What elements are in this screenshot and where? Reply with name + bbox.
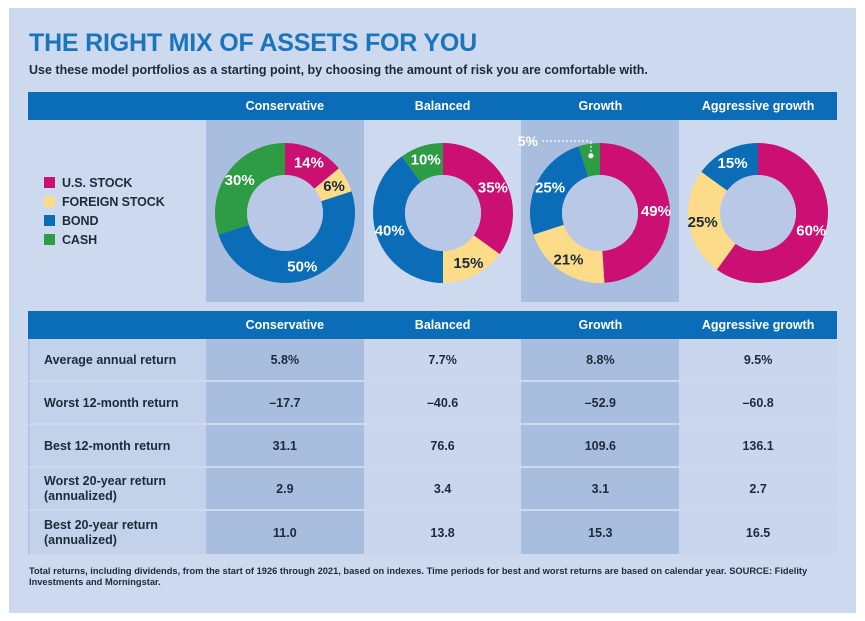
infographic-page: THE RIGHT MIX OF ASSETS FOR YOU Use thes… bbox=[0, 0, 865, 621]
table-cell-value: 76.6 bbox=[364, 425, 522, 468]
donut-slice-label: 10% bbox=[410, 152, 440, 169]
table-cell-value: 2.7 bbox=[679, 468, 837, 511]
legend-label: U.S. STOCK bbox=[62, 176, 132, 190]
table-header-corner bbox=[28, 311, 206, 339]
legend-item-cash: CASH bbox=[44, 233, 206, 247]
table-header-balanced: Balanced bbox=[364, 311, 522, 339]
table-row-label: Best 12-month return bbox=[28, 425, 206, 468]
chart-legend: U.S. STOCKFOREIGN STOCKBONDCASH bbox=[28, 120, 206, 302]
table-row-label: Worst 12-month return bbox=[28, 382, 206, 425]
table-header-aggressive-growth: Aggressive growth bbox=[679, 311, 837, 339]
table-row-label: Best 20-year return(annualized) bbox=[28, 511, 206, 554]
donut-header-balanced: Balanced bbox=[364, 92, 522, 120]
infographic-card: THE RIGHT MIX OF ASSETS FOR YOU Use thes… bbox=[9, 8, 856, 613]
donut-slice-label: 6% bbox=[323, 178, 345, 195]
donut-header-bar: Conservative Balanced Growth Aggressive … bbox=[28, 92, 837, 120]
donut-chart-aggressive-growth: 60%25%15% bbox=[679, 120, 837, 302]
table-cell-value: 5.8% bbox=[206, 339, 364, 382]
legend-label: BOND bbox=[62, 214, 98, 228]
donut-slice-label: 15% bbox=[718, 155, 748, 172]
table-cell-value: 11.0 bbox=[206, 511, 364, 554]
donut-header-aggressive-growth: Aggressive growth bbox=[679, 92, 837, 120]
donut-slice-label: 30% bbox=[225, 172, 255, 189]
table-body: Average annual return5.8%7.7%8.8%9.5%Wor… bbox=[28, 339, 837, 554]
donut-chart-balanced: 35%15%40%10% bbox=[364, 120, 522, 302]
legend-item-u-s-stock: U.S. STOCK bbox=[44, 176, 206, 190]
donut-chart-band: U.S. STOCKFOREIGN STOCKBONDCASH 14%6%50%… bbox=[28, 120, 837, 302]
table-cell-value: 136.1 bbox=[679, 425, 837, 468]
table-header-conservative: Conservative bbox=[206, 311, 364, 339]
page-subtitle: Use these model portfolios as a starting… bbox=[29, 63, 837, 78]
table-cell-value: 3.1 bbox=[521, 468, 679, 511]
donut-slice-label: 40% bbox=[374, 223, 404, 240]
legend-item-foreign-stock: FOREIGN STOCK bbox=[44, 195, 206, 209]
table-cell-value: 8.8% bbox=[521, 339, 679, 382]
legend-swatch-icon bbox=[44, 177, 55, 188]
donut-slice-label: 25% bbox=[535, 180, 565, 197]
table-row: Average annual return5.8%7.7%8.8%9.5% bbox=[28, 339, 837, 382]
donut-callout-label: 5% bbox=[518, 133, 539, 149]
returns-table: Conservative Balanced Growth Aggressive … bbox=[28, 311, 837, 554]
donut-center-hole bbox=[247, 175, 323, 251]
table-row: Worst 12-month return–17.7–40.6–52.9–60.… bbox=[28, 382, 837, 425]
table-cell-value: 15.3 bbox=[521, 511, 679, 554]
legend-item-bond: BOND bbox=[44, 214, 206, 228]
table-cell-value: 7.7% bbox=[364, 339, 522, 382]
donut-slice-label: 21% bbox=[554, 252, 584, 269]
callout-dot-icon bbox=[589, 153, 594, 158]
page-title: THE RIGHT MIX OF ASSETS FOR YOU bbox=[29, 30, 837, 56]
table-row-label: Worst 20-year return(annualized) bbox=[28, 468, 206, 511]
table-row: Best 12-month return31.176.6109.6136.1 bbox=[28, 425, 837, 468]
table-cell-value: 13.8 bbox=[364, 511, 522, 554]
table-cell-value: 2.9 bbox=[206, 468, 364, 511]
table-cell-value: 109.6 bbox=[521, 425, 679, 468]
donut-slice-label: 25% bbox=[688, 214, 718, 231]
donut-slice-label: 35% bbox=[477, 180, 507, 197]
donut-chart-svg: 60%25%15% bbox=[674, 127, 842, 295]
donut-chart-svg: 35%15%40%10% bbox=[359, 127, 527, 295]
donut-header-growth: Growth bbox=[521, 92, 679, 120]
donut-chart-growth: 49%21%25%5% bbox=[521, 120, 679, 302]
legend-swatch-icon bbox=[44, 196, 55, 207]
donut-slice-label: 15% bbox=[453, 255, 483, 272]
donut-slice-label: 14% bbox=[294, 155, 324, 172]
footnote: Total returns, including dividends, from… bbox=[29, 566, 837, 588]
legend-swatch-icon bbox=[44, 215, 55, 226]
legend-swatch-icon bbox=[44, 234, 55, 245]
table-cell-value: 31.1 bbox=[206, 425, 364, 468]
table-cell-value: 9.5% bbox=[679, 339, 837, 382]
donut-slice-label: 60% bbox=[796, 223, 826, 240]
donut-header-corner bbox=[28, 92, 206, 120]
table-cell-value: –52.9 bbox=[521, 382, 679, 425]
donut-chart-conservative: 14%6%50%30% bbox=[206, 120, 364, 302]
table-row-label: Average annual return bbox=[28, 339, 206, 382]
table-cell-value: 16.5 bbox=[679, 511, 837, 554]
donut-chart-svg: 49%21%25%5% bbox=[516, 127, 684, 295]
table-row: Worst 20-year return(annualized)2.93.43.… bbox=[28, 468, 837, 511]
table-cell-value: –40.6 bbox=[364, 382, 522, 425]
donut-center-hole bbox=[720, 175, 796, 251]
legend-label: CASH bbox=[62, 233, 97, 247]
donut-slice-label: 49% bbox=[641, 203, 671, 220]
table-cell-value: –17.7 bbox=[206, 382, 364, 425]
table-cell-value: 3.4 bbox=[364, 468, 522, 511]
table-row: Best 20-year return(annualized)11.013.81… bbox=[28, 511, 837, 554]
donut-center-hole bbox=[562, 175, 638, 251]
donut-chart-svg: 14%6%50%30% bbox=[201, 127, 369, 295]
donut-center-hole bbox=[405, 175, 481, 251]
table-header-growth: Growth bbox=[521, 311, 679, 339]
donut-header-conservative: Conservative bbox=[206, 92, 364, 120]
table-cell-value: –60.8 bbox=[679, 382, 837, 425]
table-header-row: Conservative Balanced Growth Aggressive … bbox=[28, 311, 837, 339]
donut-slice-label: 50% bbox=[287, 259, 317, 276]
legend-label: FOREIGN STOCK bbox=[62, 195, 165, 209]
